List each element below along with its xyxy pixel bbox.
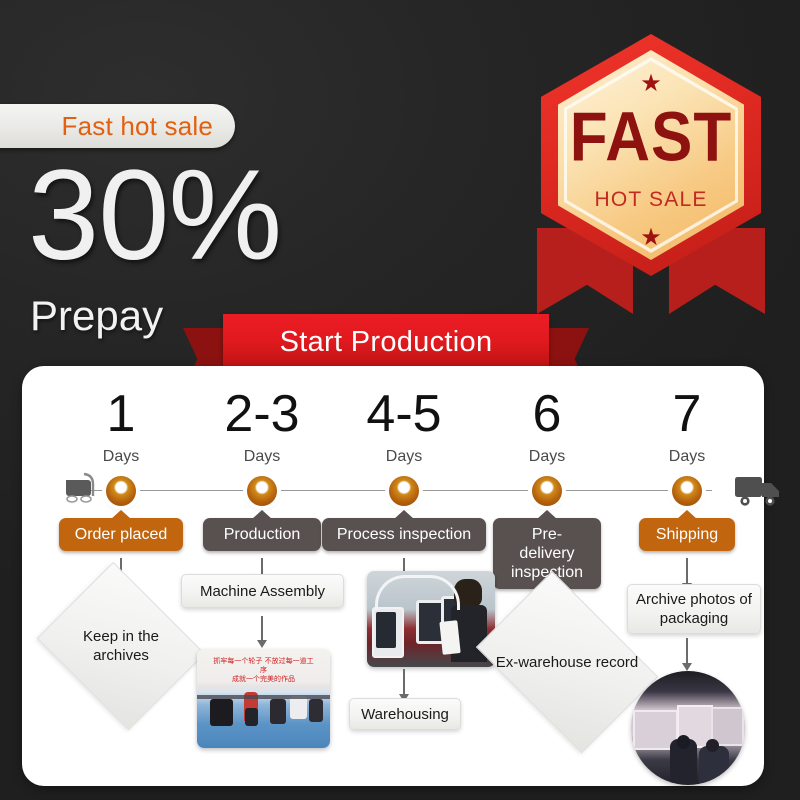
shopping-cart-icon xyxy=(60,470,106,508)
photo-image xyxy=(367,571,495,667)
worker-figure xyxy=(309,699,324,723)
archive-photos-box[interactable]: Archive photos of packaging xyxy=(627,584,761,634)
screen-display xyxy=(376,612,396,648)
clipboard xyxy=(440,620,461,654)
arrow-down xyxy=(261,616,263,641)
star-icon: ★ xyxy=(640,72,662,96)
quality-inspection-photo xyxy=(367,571,495,667)
infographic-root: Fast hot sale 30% Prepay ★ FAST HOT SALE… xyxy=(0,0,800,800)
step-label-order-placed[interactable]: Order placed xyxy=(59,518,183,551)
badge-subtitle: HOT SALE xyxy=(527,188,775,212)
delivery-truck-icon xyxy=(734,472,784,508)
timeline-node[interactable] xyxy=(532,476,562,506)
keep-in-archives-diamond: Keep in the archives xyxy=(56,592,186,700)
truck-loading-photo xyxy=(631,671,745,785)
photo-image xyxy=(631,671,745,785)
ribbon-body: Start Production xyxy=(223,314,549,370)
ribbon-label: Start Production xyxy=(280,326,493,359)
machine-assembly-box[interactable]: Machine Assembly xyxy=(181,574,344,608)
factory-assembly-photo: 抓牢每一个轮子 不放过每一道工序成就一个完美的作品 xyxy=(197,649,330,748)
keep-in-archives-label: Keep in the archives xyxy=(56,592,186,700)
arrow-down xyxy=(686,638,688,664)
worker-figure xyxy=(210,699,233,727)
worker-head xyxy=(706,739,719,752)
ex-warehouse-record-label: Ex-warehouse record xyxy=(492,608,642,716)
arrow-down xyxy=(403,669,405,695)
timeline-node[interactable] xyxy=(247,476,277,506)
process-panel: 1 Days Order placed 2-3 Days Production … xyxy=(22,366,764,786)
step-days-number: 7 xyxy=(602,388,772,440)
worker-head xyxy=(677,735,691,749)
discount-percent: 30% xyxy=(28,152,281,280)
step-days-unit: Days xyxy=(602,448,772,466)
star-icon: ★ xyxy=(640,226,662,250)
photo-caption-chinese: 抓牢每一个轮子 不放过每一道工序成就一个完美的作品 xyxy=(213,657,314,673)
ex-warehouse-record-diamond: Ex-warehouse record xyxy=(492,608,642,716)
timeline-node[interactable] xyxy=(389,476,419,506)
hot-sale-pill: Fast hot sale xyxy=(0,104,235,148)
arrow-down xyxy=(686,558,688,584)
workbench xyxy=(197,695,330,700)
step-label-production[interactable]: Production xyxy=(203,518,321,551)
worker-figure xyxy=(245,708,258,726)
step-label-process-inspection[interactable]: Process inspection xyxy=(322,518,486,551)
warehousing-box[interactable]: Warehousing xyxy=(349,698,461,730)
hot-sale-pill-label: Fast hot sale xyxy=(62,111,213,142)
timeline-node[interactable] xyxy=(106,476,136,506)
worker-figure xyxy=(270,699,286,725)
fast-hot-sale-badge: ★ FAST HOT SALE ★ xyxy=(527,28,775,318)
hose-rack xyxy=(375,575,460,611)
badge-title: FAST xyxy=(527,98,775,178)
prepay-label: Prepay xyxy=(30,292,163,340)
timeline-node[interactable] xyxy=(672,476,702,506)
photo-image: 抓牢每一个轮子 不放过每一道工序成就一个完美的作品 xyxy=(197,649,330,748)
step-label-shipping[interactable]: Shipping xyxy=(639,518,735,551)
